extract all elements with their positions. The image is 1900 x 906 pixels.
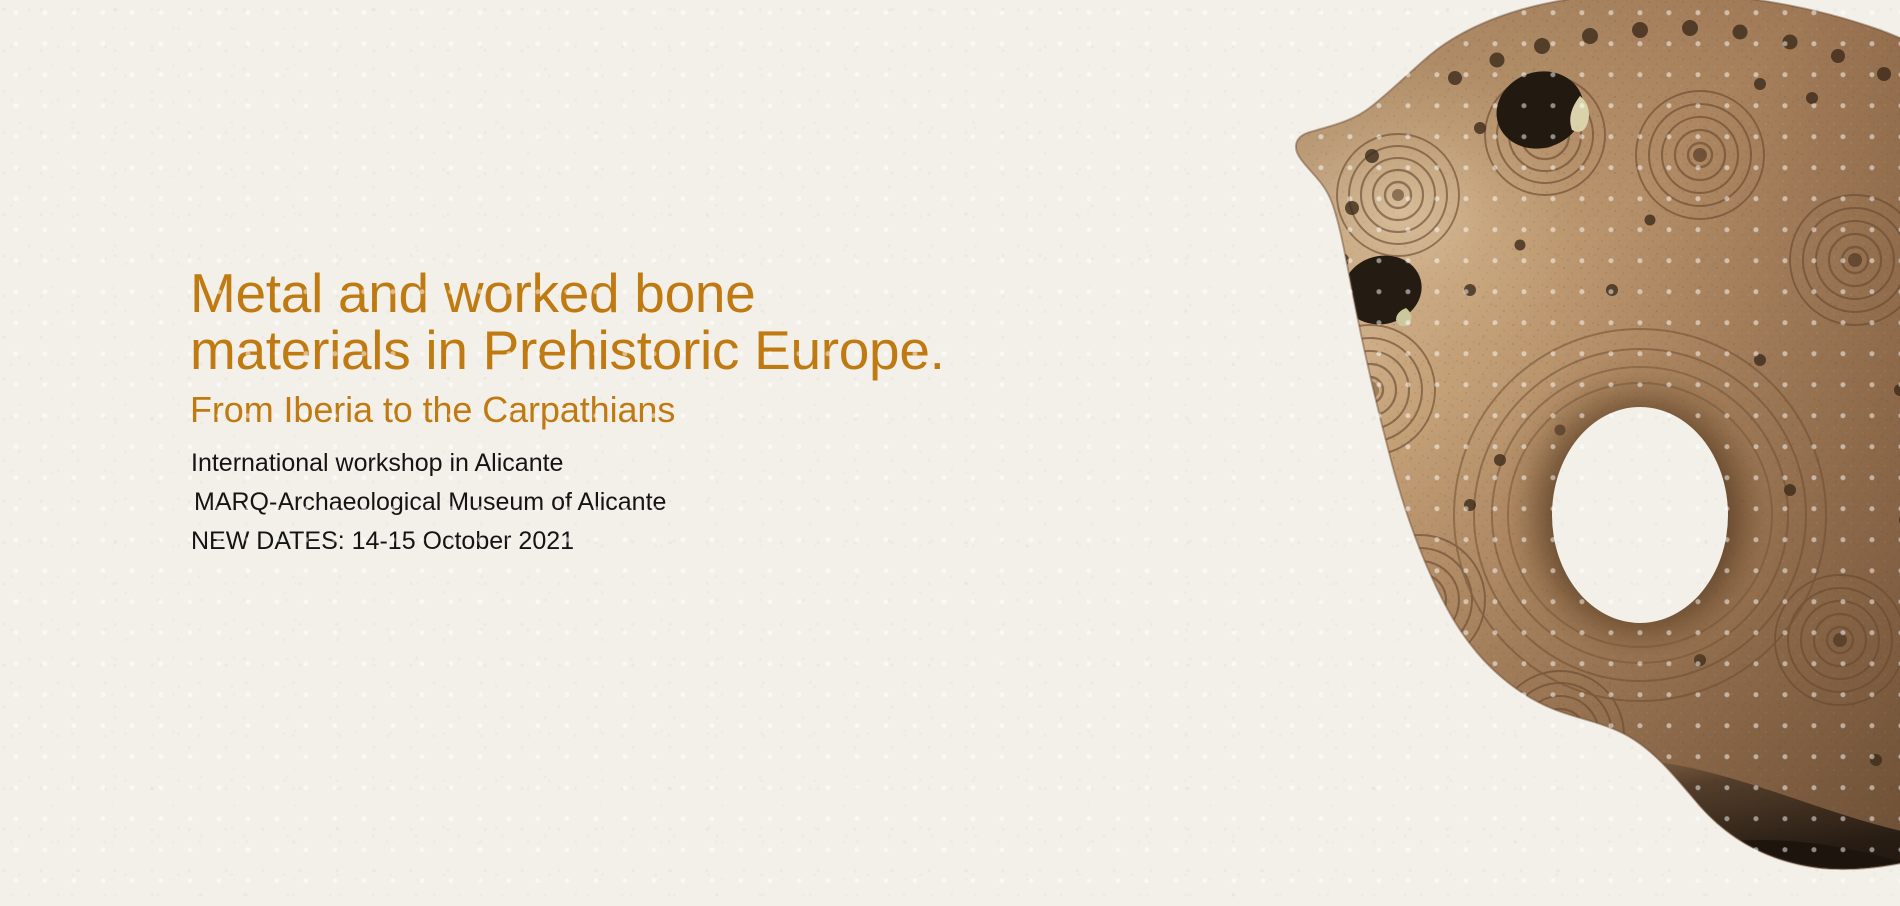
- detail-venue: MARQ-Archaeological Museum of Alicante: [194, 490, 1190, 515]
- subtitle: From Iberia to the Carpathians: [190, 390, 1190, 430]
- title-line-2: materials in Prehistoric Europe.: [190, 323, 1190, 378]
- central-perforation: [1490, 347, 1790, 683]
- charred-core: [1560, 840, 1900, 906]
- detail-dates: NEW DATES: 14-15 October 2021: [191, 529, 1190, 554]
- title-line-1: Metal and worked bone: [190, 266, 1190, 321]
- detail-workshop: International workshop in Alicante: [191, 451, 1190, 476]
- event-banner: Metal and worked bone materials in Prehi…: [0, 0, 1900, 906]
- banner-text-block: Metal and worked bone materials in Prehi…: [190, 266, 1190, 554]
